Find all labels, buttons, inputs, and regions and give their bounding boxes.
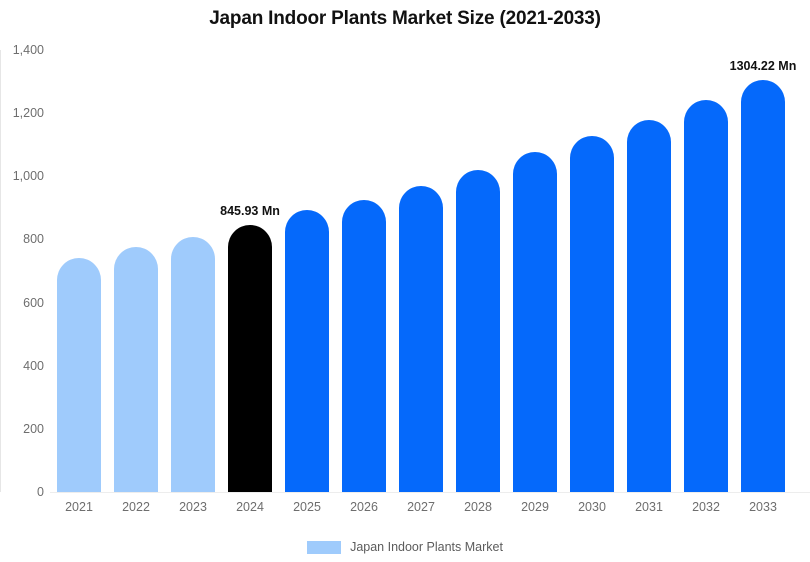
x-axis-tick: 2021: [57, 500, 101, 514]
x-axis-tick: 2031: [627, 500, 671, 514]
x-axis-tick: 2032: [684, 500, 728, 514]
x-axis-tick: 2029: [513, 500, 557, 514]
x-axis-tick: 2033: [741, 500, 785, 514]
y-axis-tick: 1,000: [0, 170, 44, 183]
x-axis-tick-labels: 2021202220232024202520262027202820292030…: [50, 500, 810, 522]
x-axis-tick: 2027: [399, 500, 443, 514]
bar-2025[interactable]: [285, 210, 329, 492]
legend-swatch-icon: [307, 541, 341, 554]
y-axis-tick: 1,200: [0, 107, 44, 120]
bar-2032[interactable]: [684, 100, 728, 492]
bar-chart: Japan Indoor Plants Market Size (2021-20…: [0, 0, 810, 562]
y-axis-tick: 400: [0, 359, 44, 372]
x-axis-line: [50, 492, 810, 493]
x-axis-tick: 2030: [570, 500, 614, 514]
plot-area: 845.93 Mn1304.22 Mn: [50, 50, 810, 492]
x-axis-tick: 2025: [285, 500, 329, 514]
chart-title: Japan Indoor Plants Market Size (2021-20…: [0, 8, 810, 30]
y-axis-tick: 0: [0, 486, 44, 499]
bar-2027[interactable]: [399, 186, 443, 492]
bar-2023[interactable]: [171, 237, 215, 492]
bar-2033[interactable]: [741, 80, 785, 492]
x-axis-tick: 2026: [342, 500, 386, 514]
bar-value-label: 845.93 Mn: [220, 204, 280, 218]
y-axis-tick: 1,400: [0, 44, 44, 57]
bar-2030[interactable]: [570, 136, 614, 492]
bar-2028[interactable]: [456, 170, 500, 492]
bar-2026[interactable]: [342, 200, 386, 492]
bar-2031[interactable]: [627, 120, 671, 492]
y-axis-tick: 800: [0, 233, 44, 246]
bar-2024[interactable]: [228, 225, 272, 492]
bar-value-label: 1304.22 Mn: [730, 59, 797, 73]
bar-2022[interactable]: [114, 247, 158, 492]
x-axis-tick: 2024: [228, 500, 272, 514]
y-axis-tick: 600: [0, 296, 44, 309]
x-axis-tick: 2023: [171, 500, 215, 514]
x-axis-tick: 2022: [114, 500, 158, 514]
bar-2029[interactable]: [513, 152, 557, 492]
y-axis-tick: 200: [0, 423, 44, 436]
legend-item-label: Japan Indoor Plants Market: [350, 540, 503, 554]
bar-2021[interactable]: [57, 258, 101, 492]
x-axis-tick: 2028: [456, 500, 500, 514]
chart-legend: Japan Indoor Plants Market: [0, 540, 810, 554]
